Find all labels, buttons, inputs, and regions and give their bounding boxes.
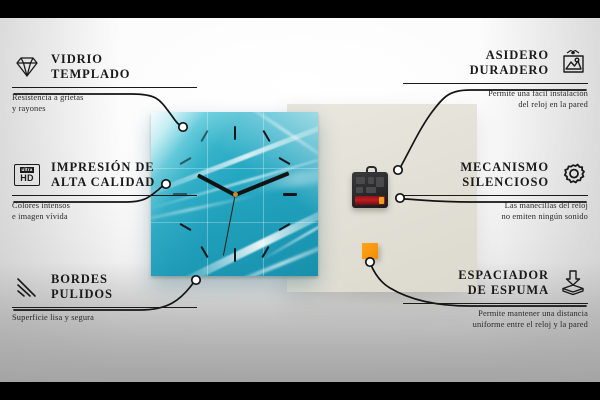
feature-desc-line1: Colores intensos (12, 200, 197, 212)
feature-desc-line2: uniforme entre el reloj y la pared (403, 319, 588, 331)
foam-spacer-icon (558, 268, 588, 298)
feature-divider (12, 87, 197, 88)
feature-desc-line2: del reloj en la pared (403, 99, 588, 111)
clock-mechanism (352, 172, 388, 208)
letterbox-bottom (0, 382, 600, 400)
feature-title-line1: IMPRESIÓN DE (51, 160, 155, 175)
feature-desc-line2: e imagen vívida (12, 211, 197, 223)
feature-vidrio-templado: VIDRIO TEMPLADO Resistencia a grietas y … (12, 52, 197, 115)
feature-title-line1: VIDRIO (51, 52, 130, 67)
feature-desc-line1: Permite mantener una distancia (403, 308, 588, 320)
feature-title-line2: SILENCIOSO (460, 175, 549, 190)
feature-title-line1: ASIDERO (470, 48, 549, 63)
ultra-hd-icon-main: HD (20, 174, 33, 183)
feature-divider (403, 83, 588, 84)
feature-desc-line2: no emiten ningún sonido (403, 211, 588, 223)
letterbox-top (0, 0, 600, 18)
feature-title-line2: ALTA CALIDAD (51, 175, 155, 190)
feature-desc-line2: y rayones (12, 103, 197, 115)
feature-title-line2: DURADERO (470, 63, 549, 78)
feature-espaciador-espuma: ESPACIADOR DE ESPUMA Permite mantener un… (403, 268, 588, 331)
picture-hanger-icon (558, 48, 588, 78)
feature-title-line1: BORDES (51, 272, 113, 287)
feature-desc-line1: Resistencia a grietas (12, 92, 197, 104)
feature-title-line2: PULIDOS (51, 287, 113, 302)
feature-title-line2: TEMPLADO (51, 67, 130, 82)
feature-divider (403, 195, 588, 196)
polished-edges-icon (12, 272, 42, 302)
clock-tick (234, 126, 236, 140)
feature-title-line1: MECANISMO (460, 160, 549, 175)
clock-tick (283, 193, 297, 196)
gear-icon (558, 160, 588, 190)
foam-spacer-sample (362, 243, 378, 259)
feature-title-line2: DE ESPUMA (458, 283, 549, 298)
feature-desc-line1: Superficie lisa y segura (12, 312, 197, 324)
feature-divider (403, 303, 588, 304)
feature-mecanismo-silencioso: MECANISMO SILENCIOSO Las manecillas del … (403, 160, 588, 223)
feature-bordes-pulidos: BORDES PULIDOS Superficie lisa y segura (12, 272, 197, 323)
feature-desc-line1: Permite una fácil instalación (403, 88, 588, 100)
infographic-canvas: VIDRIO TEMPLADO Resistencia a grietas y … (0, 0, 600, 400)
feature-asidero-duradero: ASIDERO DURADERO Permite una fácil insta… (403, 48, 588, 111)
feature-divider (12, 195, 197, 196)
mechanism-battery (355, 196, 385, 205)
feature-impresion-alta-calidad: ultra HD IMPRESIÓN DE ALTA CALIDAD Color… (12, 160, 197, 223)
feature-desc-line1: Las manecillas del reloj (403, 200, 588, 212)
feature-divider (12, 307, 197, 308)
diamond-icon (12, 52, 42, 82)
feature-title-line1: ESPACIADOR (458, 268, 549, 283)
clock-tick (234, 248, 236, 262)
ultra-hd-icon: ultra HD (12, 160, 42, 190)
clock-hub (233, 192, 238, 197)
